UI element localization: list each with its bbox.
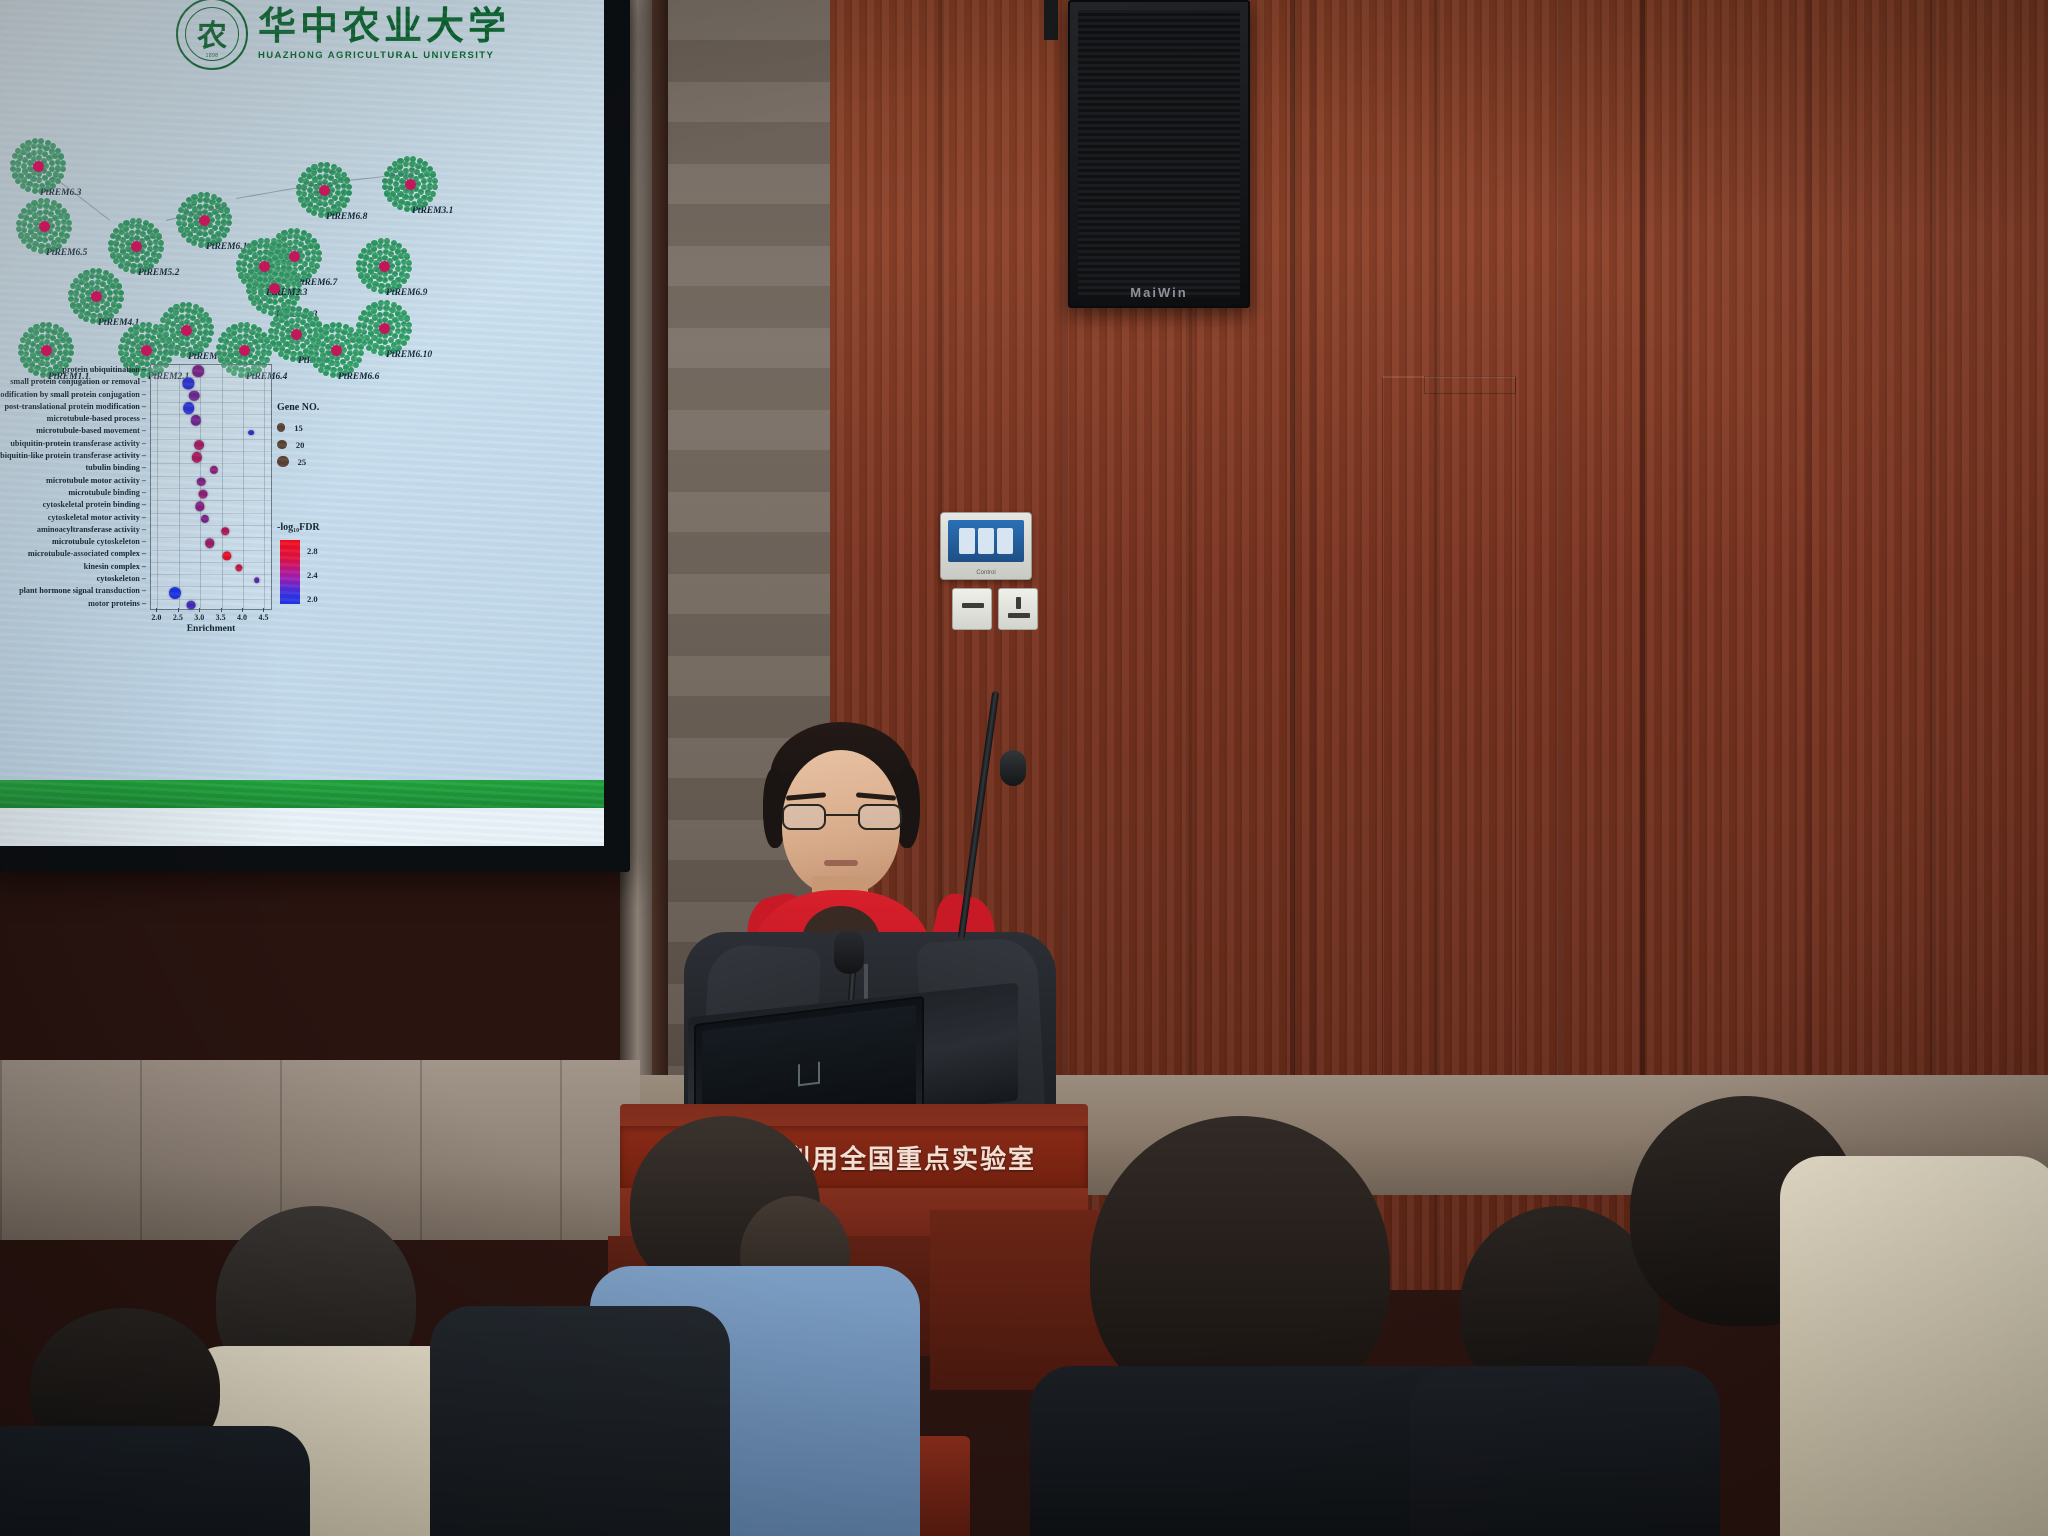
- network-node: [382, 178, 388, 184]
- network-node: [118, 263, 124, 269]
- network-node: [49, 160, 55, 166]
- network-node: [173, 304, 179, 310]
- dotplot-gridline: [151, 427, 271, 428]
- network-node: [64, 233, 70, 239]
- network-node: [139, 327, 145, 333]
- network-node: [66, 226, 72, 232]
- network-node: [281, 230, 287, 236]
- network-node: [231, 324, 237, 330]
- network-node: [129, 347, 135, 353]
- dotplot-category-label: modification by small protein conjugatio…: [0, 389, 150, 401]
- dotplot-point: [222, 551, 231, 560]
- wall-door-notch: [1424, 376, 1516, 394]
- network-node: [39, 334, 45, 340]
- speaker-bracket: [1044, 0, 1058, 40]
- network-node: [129, 223, 135, 229]
- socket-slot: [1008, 613, 1030, 618]
- network-node: [358, 350, 364, 356]
- network-node: [21, 220, 27, 226]
- network-node: [191, 240, 197, 246]
- dotplot-category-label: protein ubiquitination –: [0, 364, 150, 376]
- socket-slot: [962, 603, 984, 608]
- network-node: [198, 242, 204, 248]
- dotplot-category-labels: protein ubiquitination –small protein co…: [0, 364, 150, 610]
- network-node: [18, 232, 24, 238]
- dotplot-x-tick-label: 2.5: [173, 613, 183, 622]
- network-node: [197, 324, 203, 330]
- network-node: [156, 253, 162, 259]
- network-node: [25, 186, 31, 192]
- microphone-head: [1000, 750, 1026, 786]
- dotplot-category-label: tubulin binding –: [0, 462, 150, 474]
- socket-slot: [1016, 597, 1021, 609]
- network-node-label: PtREM6.10: [386, 350, 432, 360]
- network-node: [191, 194, 197, 200]
- dotplot-category-label: post-translational protein modification …: [0, 401, 150, 413]
- network-node: [289, 318, 295, 324]
- university-seal-icon: 农 1898: [176, 0, 248, 70]
- dotplot-gridline: [151, 439, 271, 440]
- network-node: [329, 327, 335, 333]
- network-node: [377, 305, 383, 311]
- network-hub-node: [259, 261, 270, 272]
- network-node: [23, 344, 29, 350]
- network-node: [73, 290, 79, 296]
- dotplot-point: [254, 578, 259, 583]
- dotplot-point: [235, 564, 242, 571]
- network-node: [397, 158, 403, 164]
- network-node: [226, 220, 232, 226]
- projection-screen-frame: 农 1898 华中农业大学 HUAZHONG AGRICULTURAL UNIV…: [0, 0, 630, 872]
- network-node: [68, 344, 74, 350]
- network-node: [344, 197, 350, 203]
- network-node: [314, 243, 320, 249]
- glasses-bridge: [826, 814, 858, 816]
- network-node: [377, 250, 383, 256]
- network-node: [197, 204, 203, 210]
- network-node: [404, 253, 410, 259]
- network-node: [257, 250, 263, 256]
- network-node: [244, 322, 250, 328]
- network-node: [311, 164, 317, 170]
- dotplot-x-tick-label: 2.0: [151, 613, 161, 622]
- network-node: [208, 324, 214, 330]
- dotplot-x-axis-title: Enrichment: [150, 624, 272, 634]
- network-hub-node: [331, 345, 342, 356]
- dotplot-plot-area: [150, 364, 272, 610]
- seal-year: 1898: [206, 53, 219, 59]
- network-node: [58, 173, 64, 179]
- network-node: [179, 314, 185, 320]
- network-cluster: [310, 324, 362, 376]
- network-node: [31, 143, 37, 149]
- network-node: [57, 344, 63, 350]
- dotplot-category-label: microtubule binding –: [0, 487, 150, 499]
- network-node: [406, 260, 412, 266]
- network-node: [180, 352, 186, 358]
- network-node: [146, 322, 152, 328]
- network-node: [305, 250, 311, 256]
- network-node: [38, 248, 44, 254]
- network-node: [16, 220, 22, 226]
- fdr-colorbar-legend: -log₁₀FDR 2.82.42.0: [277, 522, 387, 539]
- network-node: [25, 140, 31, 146]
- speaker-brand-label: MaiWin: [1070, 285, 1248, 300]
- network-node: [275, 260, 281, 266]
- glasses-lens: [858, 804, 902, 830]
- wall-socket-icon[interactable]: [998, 588, 1038, 630]
- audience-jacket: [0, 1426, 310, 1536]
- dotplot-gridline: [151, 414, 271, 415]
- dotplot-category-label: microtubule-associated complex –: [0, 548, 150, 560]
- wall-vertical-seam: [652, 0, 668, 1140]
- control-panel-screen[interactable]: [948, 520, 1024, 562]
- network-node: [156, 233, 162, 239]
- network-node: [313, 344, 319, 350]
- network-node: [44, 198, 50, 204]
- network-node: [224, 227, 230, 233]
- dotplot-category-label: motor proteins –: [0, 598, 150, 610]
- network-node: [256, 305, 262, 311]
- network-node: [187, 217, 193, 223]
- network-node: [289, 311, 295, 317]
- network-node: [367, 263, 373, 269]
- network-node: [166, 337, 172, 343]
- gene-count-legend-items: 152025: [277, 419, 382, 470]
- network-node: [406, 322, 412, 328]
- network-node: [294, 228, 300, 234]
- network-node: [298, 196, 304, 202]
- network-node: [133, 324, 139, 330]
- dotplot-point: [183, 378, 194, 389]
- dotplot-x-tick: [199, 608, 200, 612]
- dotplot-category-label: microtubule motor activity –: [0, 475, 150, 487]
- network-node-label: PtREM3.1: [412, 206, 453, 216]
- network-hub-node: [269, 283, 280, 294]
- network-node: [384, 238, 390, 244]
- legend-value: 15: [294, 423, 303, 433]
- network-node: [316, 250, 322, 256]
- network-node: [247, 263, 253, 269]
- network-node: [64, 213, 70, 219]
- network-node: [378, 288, 384, 294]
- dotplot-point: [169, 587, 181, 599]
- network-node: [264, 337, 270, 343]
- network-node: [237, 334, 243, 340]
- network-node: [79, 293, 85, 299]
- network-node: [20, 183, 26, 189]
- network-node: [404, 206, 410, 212]
- dotplot-category-label: kinesin complex –: [0, 561, 150, 573]
- network-node: [358, 344, 364, 350]
- network-node: [395, 260, 401, 266]
- network-node-label: PtREM5.2: [138, 268, 179, 278]
- laptop-logo: [798, 1062, 820, 1087]
- network-node: [39, 327, 45, 333]
- control-button[interactable]: [997, 528, 1013, 554]
- network-node: [314, 263, 320, 269]
- network-node: [226, 214, 232, 220]
- dotplot-category-label: cytoskeletal motor activity –: [0, 512, 150, 524]
- network-node: [266, 344, 272, 350]
- network-node: [356, 260, 362, 266]
- network-node: [227, 347, 233, 353]
- network-node: [147, 240, 153, 246]
- presenter-mouth: [824, 860, 858, 866]
- network-node: [329, 334, 335, 340]
- network-node-label: PtREM6.7: [296, 278, 337, 288]
- dotplot-x-tick-label: 4.5: [258, 613, 268, 622]
- network-node: [318, 367, 324, 373]
- network-node: [118, 296, 124, 302]
- network-node: [60, 166, 66, 172]
- speaker-grille: [1078, 10, 1240, 298]
- network-node: [206, 317, 212, 323]
- university-name-en: HUAZHONG AGRICULTURAL UNIVERSITY: [258, 50, 510, 61]
- network-node: [397, 204, 403, 210]
- network-node: [324, 162, 330, 168]
- network-node: [406, 266, 412, 272]
- network-node: [251, 286, 257, 292]
- seal-glyph: 农: [197, 11, 227, 55]
- university-name-cn: 华中农业大学: [258, 7, 510, 45]
- network-node: [158, 240, 164, 246]
- network-hub-node: [141, 345, 152, 356]
- dotplot-point: [196, 502, 205, 511]
- network-node-label: PtREM6.9: [386, 288, 427, 298]
- audience-member: [0, 1286, 300, 1536]
- network-node: [384, 300, 390, 306]
- network-hub-node: [131, 241, 142, 252]
- network-node: [12, 172, 18, 178]
- dotplot-category-label: small protein conjugation or removal –: [0, 376, 150, 388]
- dotplot-gridline: [151, 488, 271, 489]
- network-node: [89, 280, 95, 286]
- gene-count-legend-title: Gene NO.: [277, 402, 382, 413]
- dotplot-x-tick-label: 3.0: [194, 613, 204, 622]
- network-node: [336, 322, 342, 328]
- network-cluster: [12, 140, 64, 192]
- network-node: [197, 197, 203, 203]
- dotplot-x-tick: [263, 608, 264, 612]
- network-cluster: [384, 158, 436, 210]
- slide-footer: [0, 808, 604, 846]
- network-node: [356, 337, 362, 343]
- network-node: [318, 212, 324, 218]
- network-node: [224, 207, 230, 213]
- network-node: [430, 171, 436, 177]
- network-node: [361, 260, 367, 266]
- network-node: [404, 273, 410, 279]
- dotplot-category-label: ubiquitin-like protein transferase activ…: [0, 450, 150, 462]
- network-node: [46, 322, 52, 328]
- network-node: [221, 344, 227, 350]
- network-hub-node: [41, 345, 52, 356]
- network-node: [118, 290, 124, 296]
- network-node: [68, 350, 74, 356]
- network-node: [130, 268, 136, 274]
- network-cluster: [238, 240, 290, 292]
- network-node: [371, 348, 377, 354]
- network-hub-node: [199, 215, 210, 226]
- dotplot-x-tick: [178, 608, 179, 612]
- network-hub-node: [379, 261, 390, 272]
- dotplot-gridline: [151, 390, 271, 391]
- dotplot-point: [189, 390, 200, 401]
- network-node: [279, 331, 285, 337]
- network-hub-node: [289, 251, 300, 262]
- dotplot-gridline: [151, 586, 271, 587]
- control-panel-label: Control: [941, 570, 1031, 576]
- network-node: [287, 233, 293, 239]
- network-node: [139, 334, 145, 340]
- dotplot-gridline: [151, 550, 271, 551]
- fdr-tick-label: 2.0: [307, 594, 318, 604]
- network-node: [96, 268, 102, 274]
- network-node: [215, 214, 221, 220]
- network-node: [371, 240, 377, 246]
- network-node: [330, 372, 336, 378]
- screenshot-root: MaiWin Control 农 1898 华中农业大学 HUAZHONG: [0, 0, 2048, 1536]
- network-node: [158, 246, 164, 252]
- wall-seam: [1290, 0, 1295, 1120]
- network-node: [186, 302, 192, 308]
- legend-bubble: [277, 456, 289, 468]
- dotplot-x-tick-label: 3.5: [216, 613, 226, 622]
- network-node: [283, 354, 289, 360]
- network-node: [406, 328, 412, 334]
- dotplot-category-label: cytoskeletal protein binding –: [0, 499, 150, 511]
- dotplot-category-label: aminoacyltransferase activity –: [0, 524, 150, 536]
- dotplot-category-label: microtubule-based process –: [0, 413, 150, 425]
- network-node: [123, 266, 129, 272]
- dotplot-x-tick: [242, 608, 243, 612]
- dotplot-point: [200, 515, 208, 523]
- network-node: [37, 210, 43, 216]
- network-node: [273, 328, 279, 334]
- network-hub-node: [91, 291, 102, 302]
- dotplot-point: [248, 430, 254, 436]
- audience-member: [1630, 1096, 2048, 1536]
- network-node: [118, 344, 124, 350]
- control-button[interactable]: [959, 528, 975, 554]
- network-node: [83, 316, 89, 322]
- network-node: [306, 207, 312, 213]
- network-node: [384, 190, 390, 196]
- network-node: [119, 243, 125, 249]
- network-node: [310, 356, 316, 362]
- network-node: [29, 347, 35, 353]
- dotplot-category-label: ubiquitin-protein transferase activity –: [0, 438, 150, 450]
- network-node: [264, 238, 270, 244]
- network-node: [290, 356, 296, 362]
- network-node: [110, 252, 116, 258]
- wall-socket-icon[interactable]: [952, 588, 992, 630]
- audience-jacket: [1780, 1156, 2048, 1536]
- network-node: [204, 192, 210, 198]
- network-node: [395, 322, 401, 328]
- dotplot-gridline: [151, 513, 271, 514]
- network-node: [26, 243, 32, 249]
- network-node: [178, 226, 184, 232]
- network-hub-node: [291, 329, 302, 340]
- dotplot-gridline: [151, 451, 271, 452]
- dotplot-gridline: [151, 562, 271, 563]
- wall-door-outline: [1382, 376, 1516, 1076]
- network-node-label: PtREM6.8: [326, 212, 367, 222]
- network-node: [66, 220, 72, 226]
- network-node: [251, 240, 257, 246]
- fdr-colorbar: [279, 539, 301, 605]
- dotplot-point: [183, 402, 195, 414]
- dotplot-gridline: [151, 476, 271, 477]
- dotplot-x-tick: [221, 608, 222, 612]
- slide-accent-bar: [0, 780, 604, 808]
- network-node: [37, 203, 43, 209]
- control-button[interactable]: [978, 528, 994, 554]
- network-node: [89, 273, 95, 279]
- dotplot-gridline: [151, 402, 271, 403]
- dotplot-gridline: [151, 500, 271, 501]
- network-node: [371, 286, 377, 292]
- network-node: [278, 351, 284, 357]
- network-node: [367, 325, 373, 331]
- network-hub-node: [239, 345, 250, 356]
- network-node: [296, 306, 302, 312]
- network-node: [27, 223, 33, 229]
- dotplot-gridline: [151, 463, 271, 464]
- network-node: [392, 201, 398, 207]
- network-cluster: [70, 270, 122, 322]
- network-hub-node: [181, 325, 192, 336]
- network-node: [248, 294, 254, 300]
- network-node: [179, 307, 185, 313]
- wall-control-panel[interactable]: Control: [940, 512, 1032, 580]
- fdr-tick-label: 2.4: [307, 570, 318, 580]
- network-node: [60, 160, 66, 166]
- dotplot-gridline: [151, 377, 271, 378]
- network-node: [387, 178, 393, 184]
- legend-bubble: [277, 440, 287, 450]
- network-node: [32, 188, 38, 194]
- network-node-label: PtREM6.6: [338, 372, 379, 382]
- dotplot-point: [221, 527, 229, 535]
- network-hub-node: [405, 179, 416, 190]
- network-node: [393, 181, 399, 187]
- legend-value: 20: [296, 440, 305, 450]
- network-node: [404, 315, 410, 321]
- network-node: [33, 324, 39, 330]
- network-node: [335, 184, 341, 190]
- fdr-legend-title: -log₁₀FDR: [277, 522, 387, 533]
- network-node: [403, 161, 409, 167]
- network-node: [366, 345, 372, 351]
- network-node: [284, 273, 290, 279]
- legend-bubble: [277, 423, 285, 431]
- network-node: [238, 272, 244, 278]
- network-node: [113, 240, 119, 246]
- dotplot-point: [198, 490, 207, 499]
- network-node: [173, 350, 179, 356]
- eyeglasses-icon: [782, 804, 902, 830]
- network-node: [186, 237, 192, 243]
- network-hub-node: [39, 221, 50, 232]
- network-node: [377, 243, 383, 249]
- network-cluster: [110, 220, 162, 272]
- network-node: [307, 187, 313, 193]
- network-node: [55, 220, 61, 226]
- network-node: [10, 160, 16, 166]
